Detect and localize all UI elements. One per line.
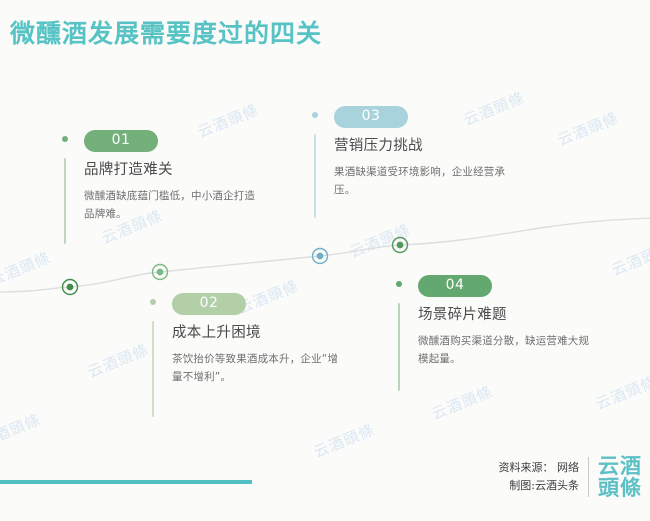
block-body-01: 微醺酒缺底蕴门槛低，中小酒企打造品牌难。 [84,187,260,223]
timeline-curve [0,0,650,521]
block-body-04: 微醺酒购买渠道分散，缺运营难大规模起量。 [418,332,594,368]
badge-number-01: 01 [84,130,158,152]
logo-line-1: 云酒 [598,455,642,477]
block-connector-line [152,321,154,417]
infographic-canvas: 云酒頭條 云酒頭條 云酒頭條 云酒頭條 云酒頭條 云酒頭條 云酒頭條 云酒頭條 … [0,0,650,521]
block-marker-dot [312,112,318,118]
badge-number-02: 02 [172,293,246,315]
block-connector-line [64,158,66,244]
badge-number-04: 04 [418,275,492,297]
block-heading-02: 成本上升困境 [172,324,346,343]
block-heading-01: 品牌打造难关 [84,161,258,180]
logo-line-2: 頭條 [598,477,642,499]
block-marker-dot [62,136,68,142]
source-credit: 资料来源： 网络 制图:云酒头条 [499,459,589,495]
credit-line: 制图:云酒头条 [499,477,580,495]
source-line: 资料来源： 网络 [499,459,580,477]
footer-accent-rule [0,480,252,484]
footer: 资料来源： 网络 制图:云酒头条 云酒 頭條 [499,455,643,499]
block-heading-03: 营销压力挑战 [334,137,508,156]
content-block-01: 01 品牌打造难关 微醺酒缺底蕴门槛低，中小酒企打造品牌难。 [62,130,258,223]
block-body-02: 茶饮抬价等致果酒成本升，企业“增量不增利”。 [172,350,348,386]
brand-logo: 云酒 頭條 [589,455,642,499]
badge-number-03: 03 [334,106,408,128]
page-title: 微醺酒发展需要度过的四关 [10,18,322,50]
block-connector-line [314,134,316,218]
block-marker-dot [396,281,402,287]
content-block-03: 03 营销压力挑战 果酒缺渠道受环境影响，企业经营承压。 [312,106,508,199]
block-heading-04: 场景碎片难题 [418,306,592,325]
block-connector-line [398,303,400,391]
block-body-03: 果酒缺渠道受环境影响，企业经营承压。 [334,163,510,199]
content-block-02: 02 成本上升困境 茶饮抬价等致果酒成本升，企业“增量不增利”。 [150,293,346,386]
block-marker-dot [150,299,156,305]
content-block-04: 04 场景碎片难题 微醺酒购买渠道分散，缺运营难大规模起量。 [396,275,592,368]
